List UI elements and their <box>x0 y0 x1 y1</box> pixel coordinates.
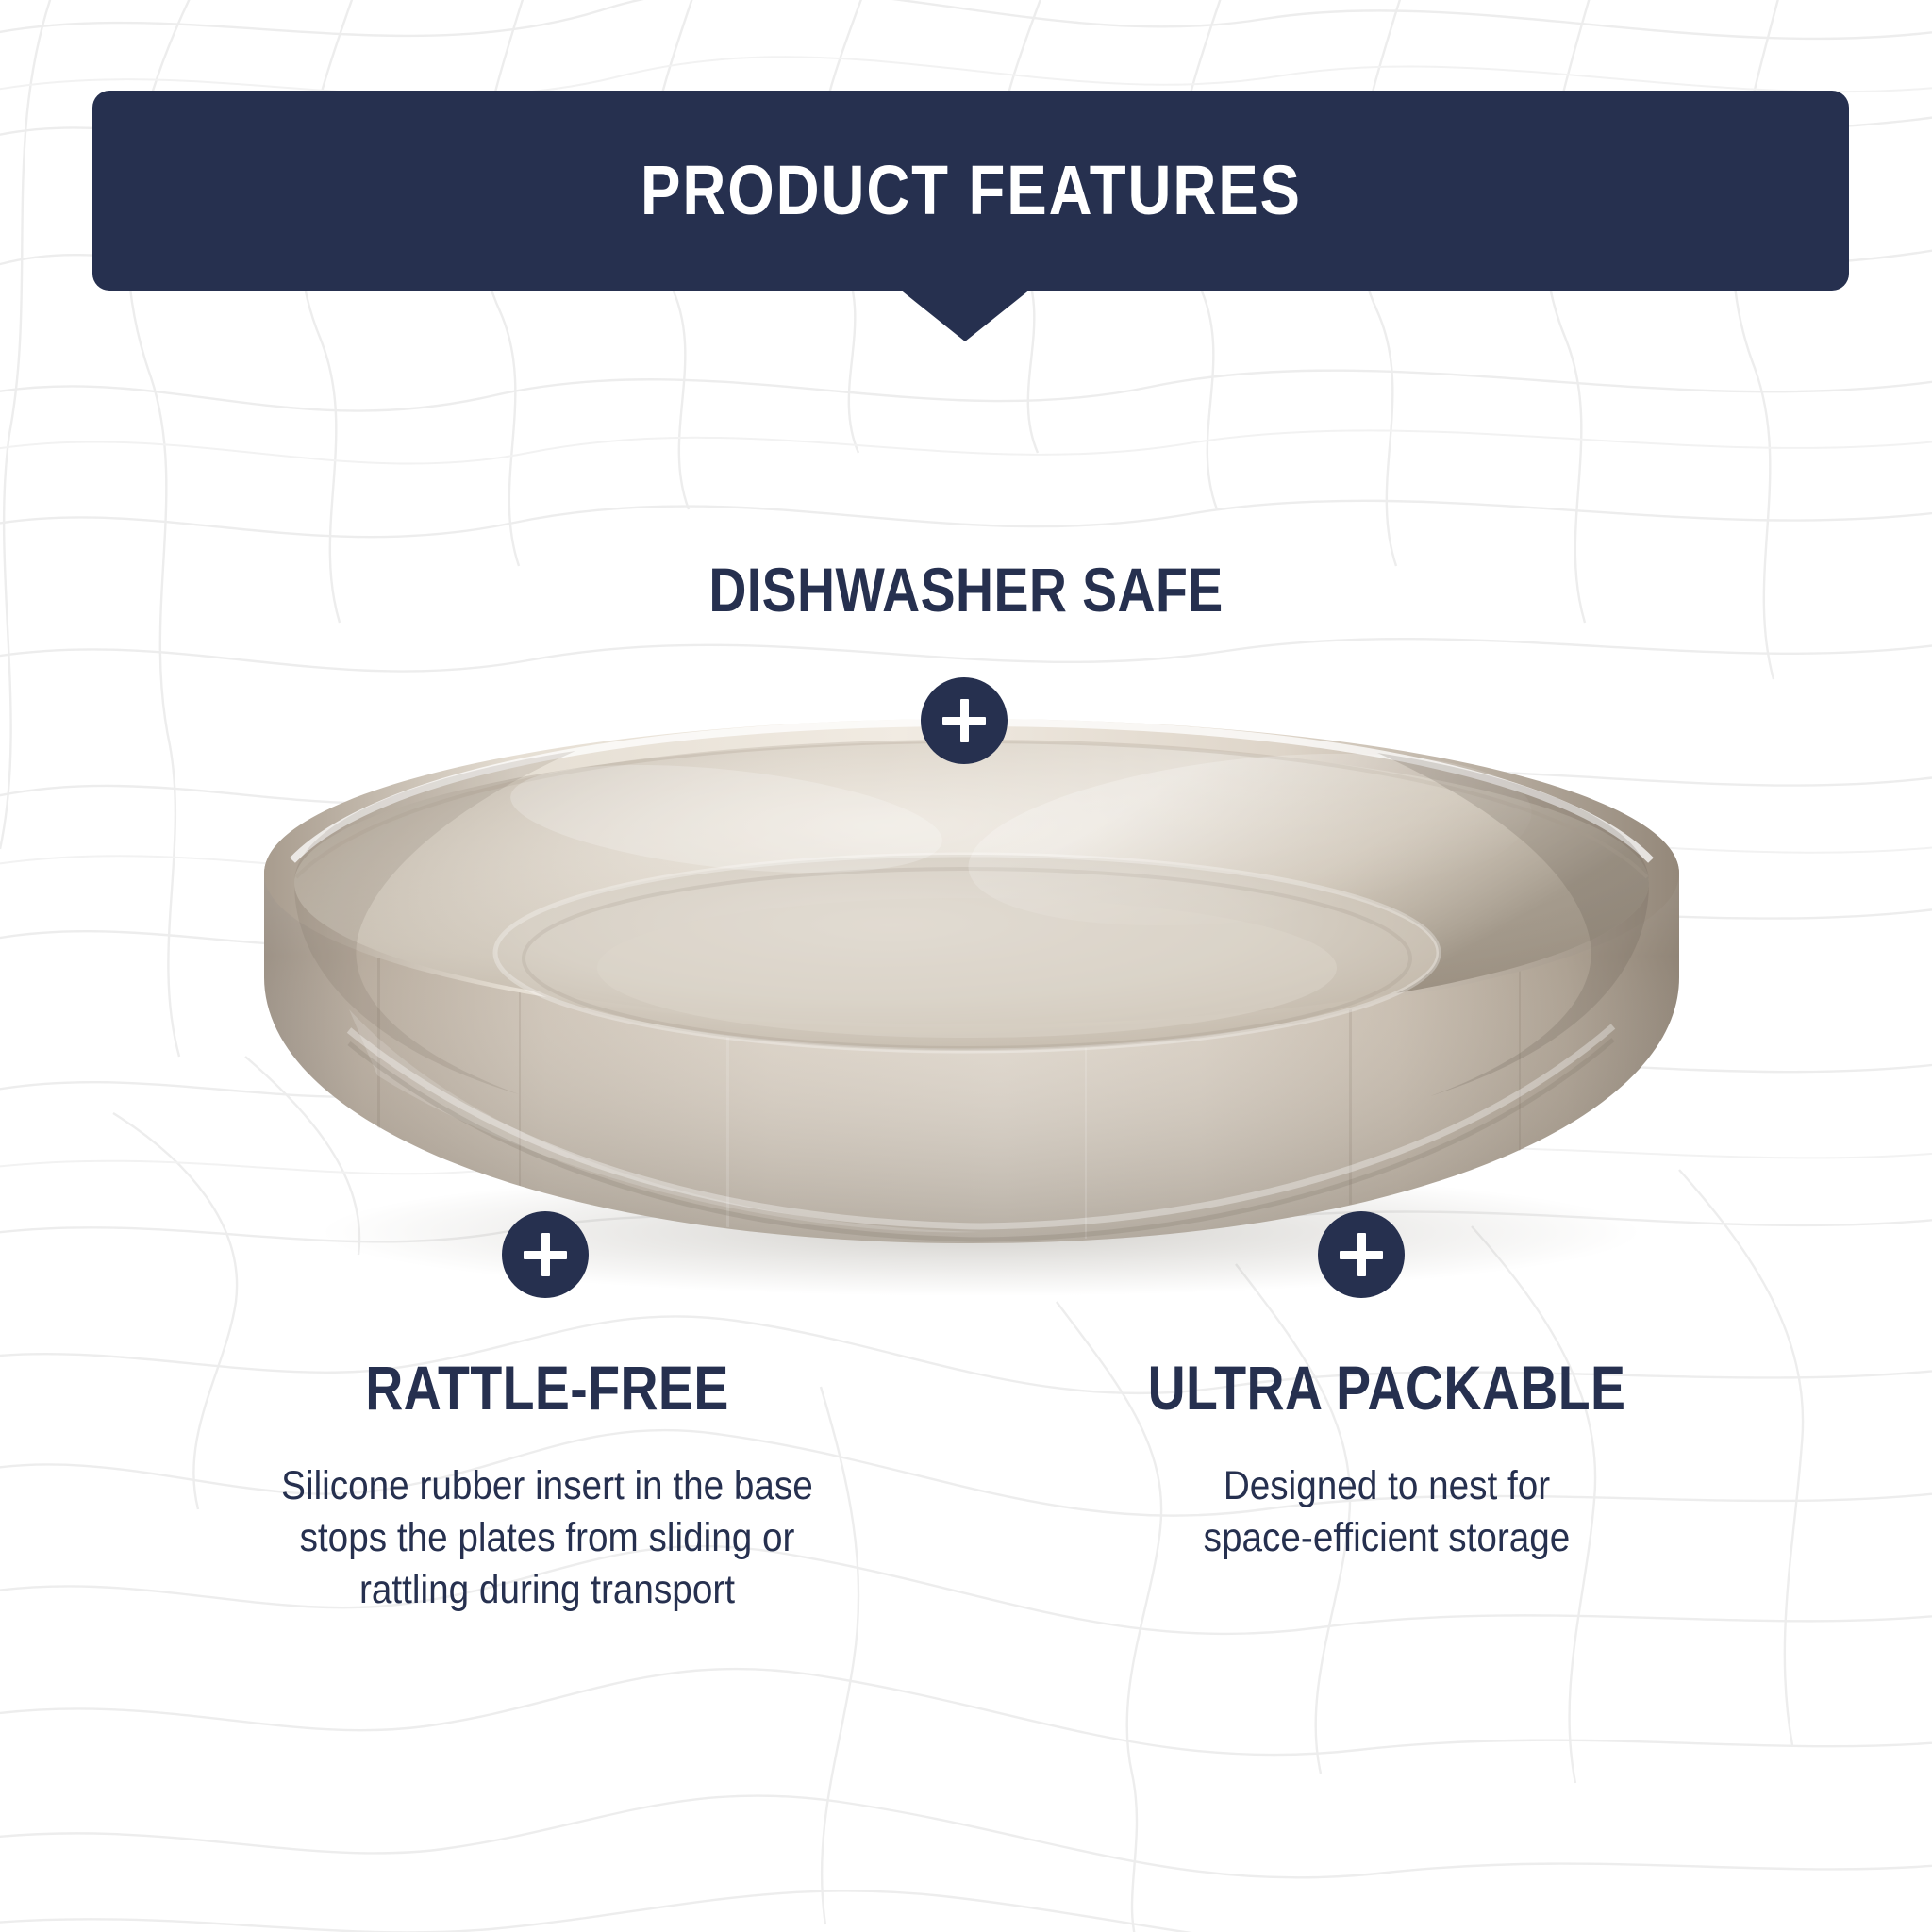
feature-body-ultra-packable: Designed to nest for space-efficient sto… <box>1030 1460 1743 1564</box>
plus-icon-dishwasher-safe[interactable] <box>921 677 1008 764</box>
feature-body-line: rattling during transport <box>174 1564 921 1616</box>
feature-body-line: Designed to nest for <box>1030 1460 1743 1512</box>
feature-body-line: space-efficient storage <box>1030 1512 1743 1564</box>
feature-title-dishwasher-safe: DISHWASHER SAFE <box>560 558 1372 621</box>
feature-title-ultra-packable: ULTRA PACKABLE <box>1030 1357 1743 1419</box>
banner-title: PRODUCT FEATURES <box>641 156 1302 225</box>
plus-icon-rattle-free[interactable] <box>502 1211 589 1298</box>
product-image-plate <box>236 698 1707 1302</box>
plus-icon-vertical-bar <box>541 1233 550 1276</box>
product-features-banner: PRODUCT FEATURES <box>92 91 1849 291</box>
infographic-canvas: PRODUCT FEATURES DISHWASHER SAFE RATTLE-… <box>0 0 1932 1932</box>
plus-icon-vertical-bar <box>1357 1233 1366 1276</box>
banner-pointer-triangle <box>899 289 1031 341</box>
feature-body-rattle-free: Silicone rubber insert in the base stops… <box>174 1460 921 1616</box>
plus-icon-vertical-bar <box>960 699 969 742</box>
feature-title-rattle-free: RATTLE-FREE <box>191 1357 904 1419</box>
feature-body-line: stops the plates from sliding or <box>174 1512 921 1564</box>
plus-icon-ultra-packable[interactable] <box>1318 1211 1405 1298</box>
feature-body-line: Silicone rubber insert in the base <box>174 1460 921 1512</box>
